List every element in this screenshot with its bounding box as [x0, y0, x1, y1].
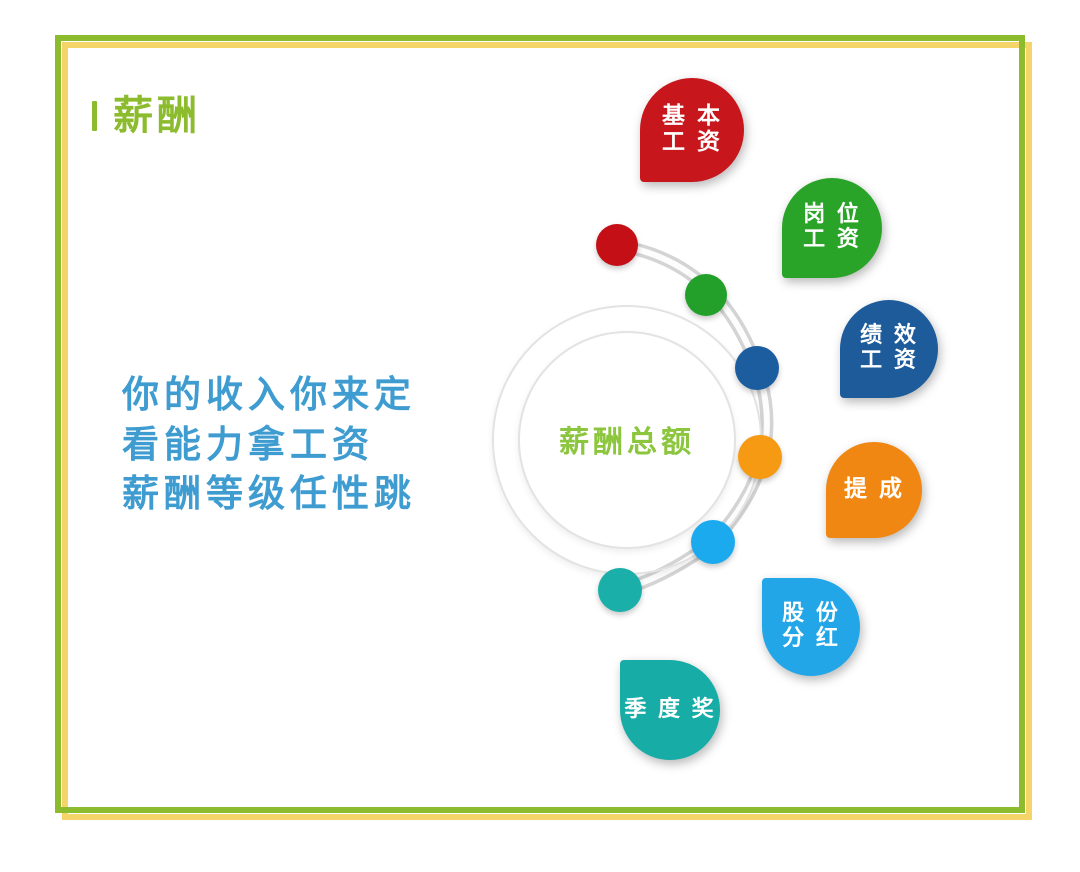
callout-basic-salary[interactable]: 基 本工 资 — [640, 78, 744, 182]
node-dot-6[interactable] — [598, 568, 642, 612]
page-title: 薪酬 — [92, 96, 201, 136]
slogan-line-3: 薪酬等级任性跳 — [122, 469, 416, 519]
slogan-block: 你的收入你来定 看能力拿工资 薪酬等级任性跳 — [122, 370, 416, 519]
callout-commission[interactable]: 提 成 — [826, 442, 922, 538]
center-label: 薪酬总额 — [492, 417, 762, 461]
callout-performance-salary-label: 绩 效工 资 — [860, 324, 918, 373]
callout-performance-salary[interactable]: 绩 效工 资 — [840, 300, 938, 398]
callout-position-salary-label: 岗 位工 资 — [803, 203, 861, 252]
callout-dividend-label: 股 份分 红 — [782, 602, 840, 651]
callout-position-salary[interactable]: 岗 位工 资 — [782, 178, 882, 278]
node-dot-5[interactable] — [691, 520, 735, 564]
callout-basic-salary-label: 基 本工 资 — [662, 104, 722, 156]
node-dot-2[interactable] — [685, 274, 727, 316]
slogan-line-1: 你的收入你来定 — [122, 370, 416, 420]
node-dot-3[interactable] — [735, 346, 779, 390]
callout-quarterly-bonus-label: 季 度 奖 — [624, 698, 715, 723]
callout-dividend[interactable]: 股 份分 红 — [762, 578, 860, 676]
callout-quarterly-bonus[interactable]: 季 度 奖 — [620, 660, 720, 760]
callout-commission-label: 提 成 — [844, 477, 904, 503]
slide-canvas: 薪酬 你的收入你来定 看能力拿工资 薪酬等级任性跳 薪酬总额 基 本工 资 岗 … — [0, 0, 1080, 872]
title-text: 薪酬 — [113, 96, 201, 136]
node-dot-1[interactable] — [596, 224, 638, 266]
node-dot-4[interactable] — [738, 435, 782, 479]
slogan-line-2: 看能力拿工资 — [122, 420, 416, 470]
title-marker-bar — [92, 101, 97, 131]
